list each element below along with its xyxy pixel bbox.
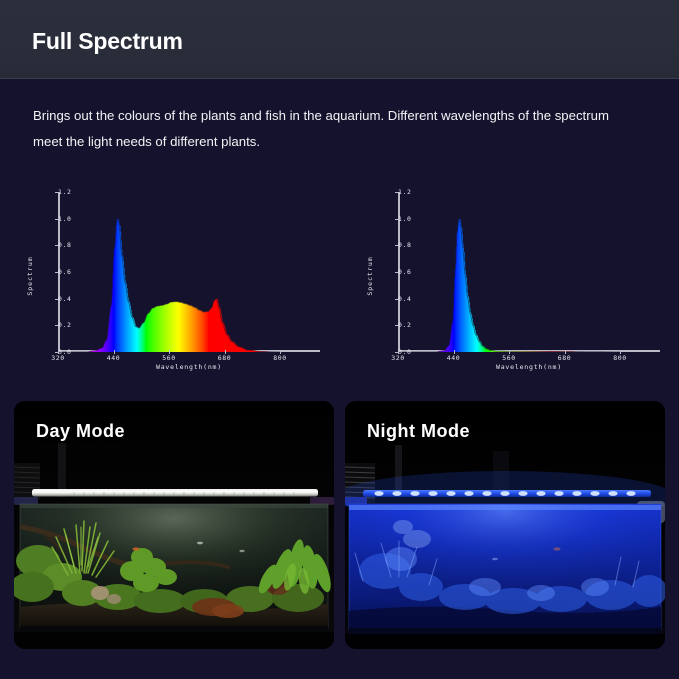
- chart-x-tick-label: 680: [218, 354, 232, 362]
- panel-label-day-mode: Day Mode: [36, 421, 125, 442]
- photo-panel-night-mode: Night Mode: [345, 401, 665, 649]
- chart-y-tick-mark: [395, 272, 398, 273]
- chart-x-tick-mark: [225, 350, 226, 354]
- chart-x-tick-label: 560: [502, 354, 516, 362]
- chart-x-tick-label: 440: [107, 354, 121, 362]
- chart-x-tick-mark: [114, 350, 115, 354]
- page-title: Full Spectrum: [32, 28, 183, 55]
- chart-x-tick-label: 680: [558, 354, 572, 362]
- photo-panel-day-mode: Day Mode: [14, 401, 334, 649]
- chart-y-tick-mark: [55, 325, 58, 326]
- chart-y-tick-mark: [55, 219, 58, 220]
- chart-x-tick-label: 560: [162, 354, 176, 362]
- chart-y-tick-mark: [395, 299, 398, 300]
- chart-x-tick-label: 320: [391, 354, 405, 362]
- chart-x-tick-label: 440: [447, 354, 461, 362]
- panel-label-night-mode: Night Mode: [367, 421, 470, 442]
- chart-y-tick-mark: [55, 299, 58, 300]
- description-text: Brings out the colours of the plants and…: [33, 103, 633, 154]
- chart-x-tick-mark: [169, 350, 170, 354]
- spectrum-curve-day: [18, 180, 338, 375]
- spectrum-chart-night: Spectrum Wavelength(nm) 0.00.20.40.60.81…: [358, 180, 678, 375]
- chart-x-tick-label: 800: [613, 354, 627, 362]
- chart-y-tick-mark: [55, 245, 58, 246]
- chart-y-tick-mark: [395, 219, 398, 220]
- chart-x-tick-label: 320: [51, 354, 65, 362]
- chart-y-tick-mark: [395, 245, 398, 246]
- chart-x-tick-mark: [509, 350, 510, 354]
- chart-x-tick-mark: [620, 350, 621, 354]
- spectrum-charts: Spectrum Wavelength(nm) 0.00.20.40.60.81…: [0, 180, 679, 380]
- chart-x-tick-mark: [58, 350, 59, 354]
- chart-x-tick-mark: [280, 350, 281, 354]
- page-header: Full Spectrum: [0, 0, 679, 79]
- chart-y-tick-mark: [395, 325, 398, 326]
- chart-y-tick-mark: [55, 272, 58, 273]
- spectrum-chart-day: Spectrum Wavelength(nm) 0.00.20.40.60.81…: [18, 180, 338, 375]
- spectrum-curve-night: [358, 180, 678, 375]
- chart-x-tick-mark: [398, 350, 399, 354]
- chart-x-tick-label: 800: [273, 354, 287, 362]
- chart-x-tick-mark: [454, 350, 455, 354]
- chart-x-tick-mark: [565, 350, 566, 354]
- chart-y-tick-mark: [55, 192, 58, 193]
- chart-y-tick-mark: [395, 192, 398, 193]
